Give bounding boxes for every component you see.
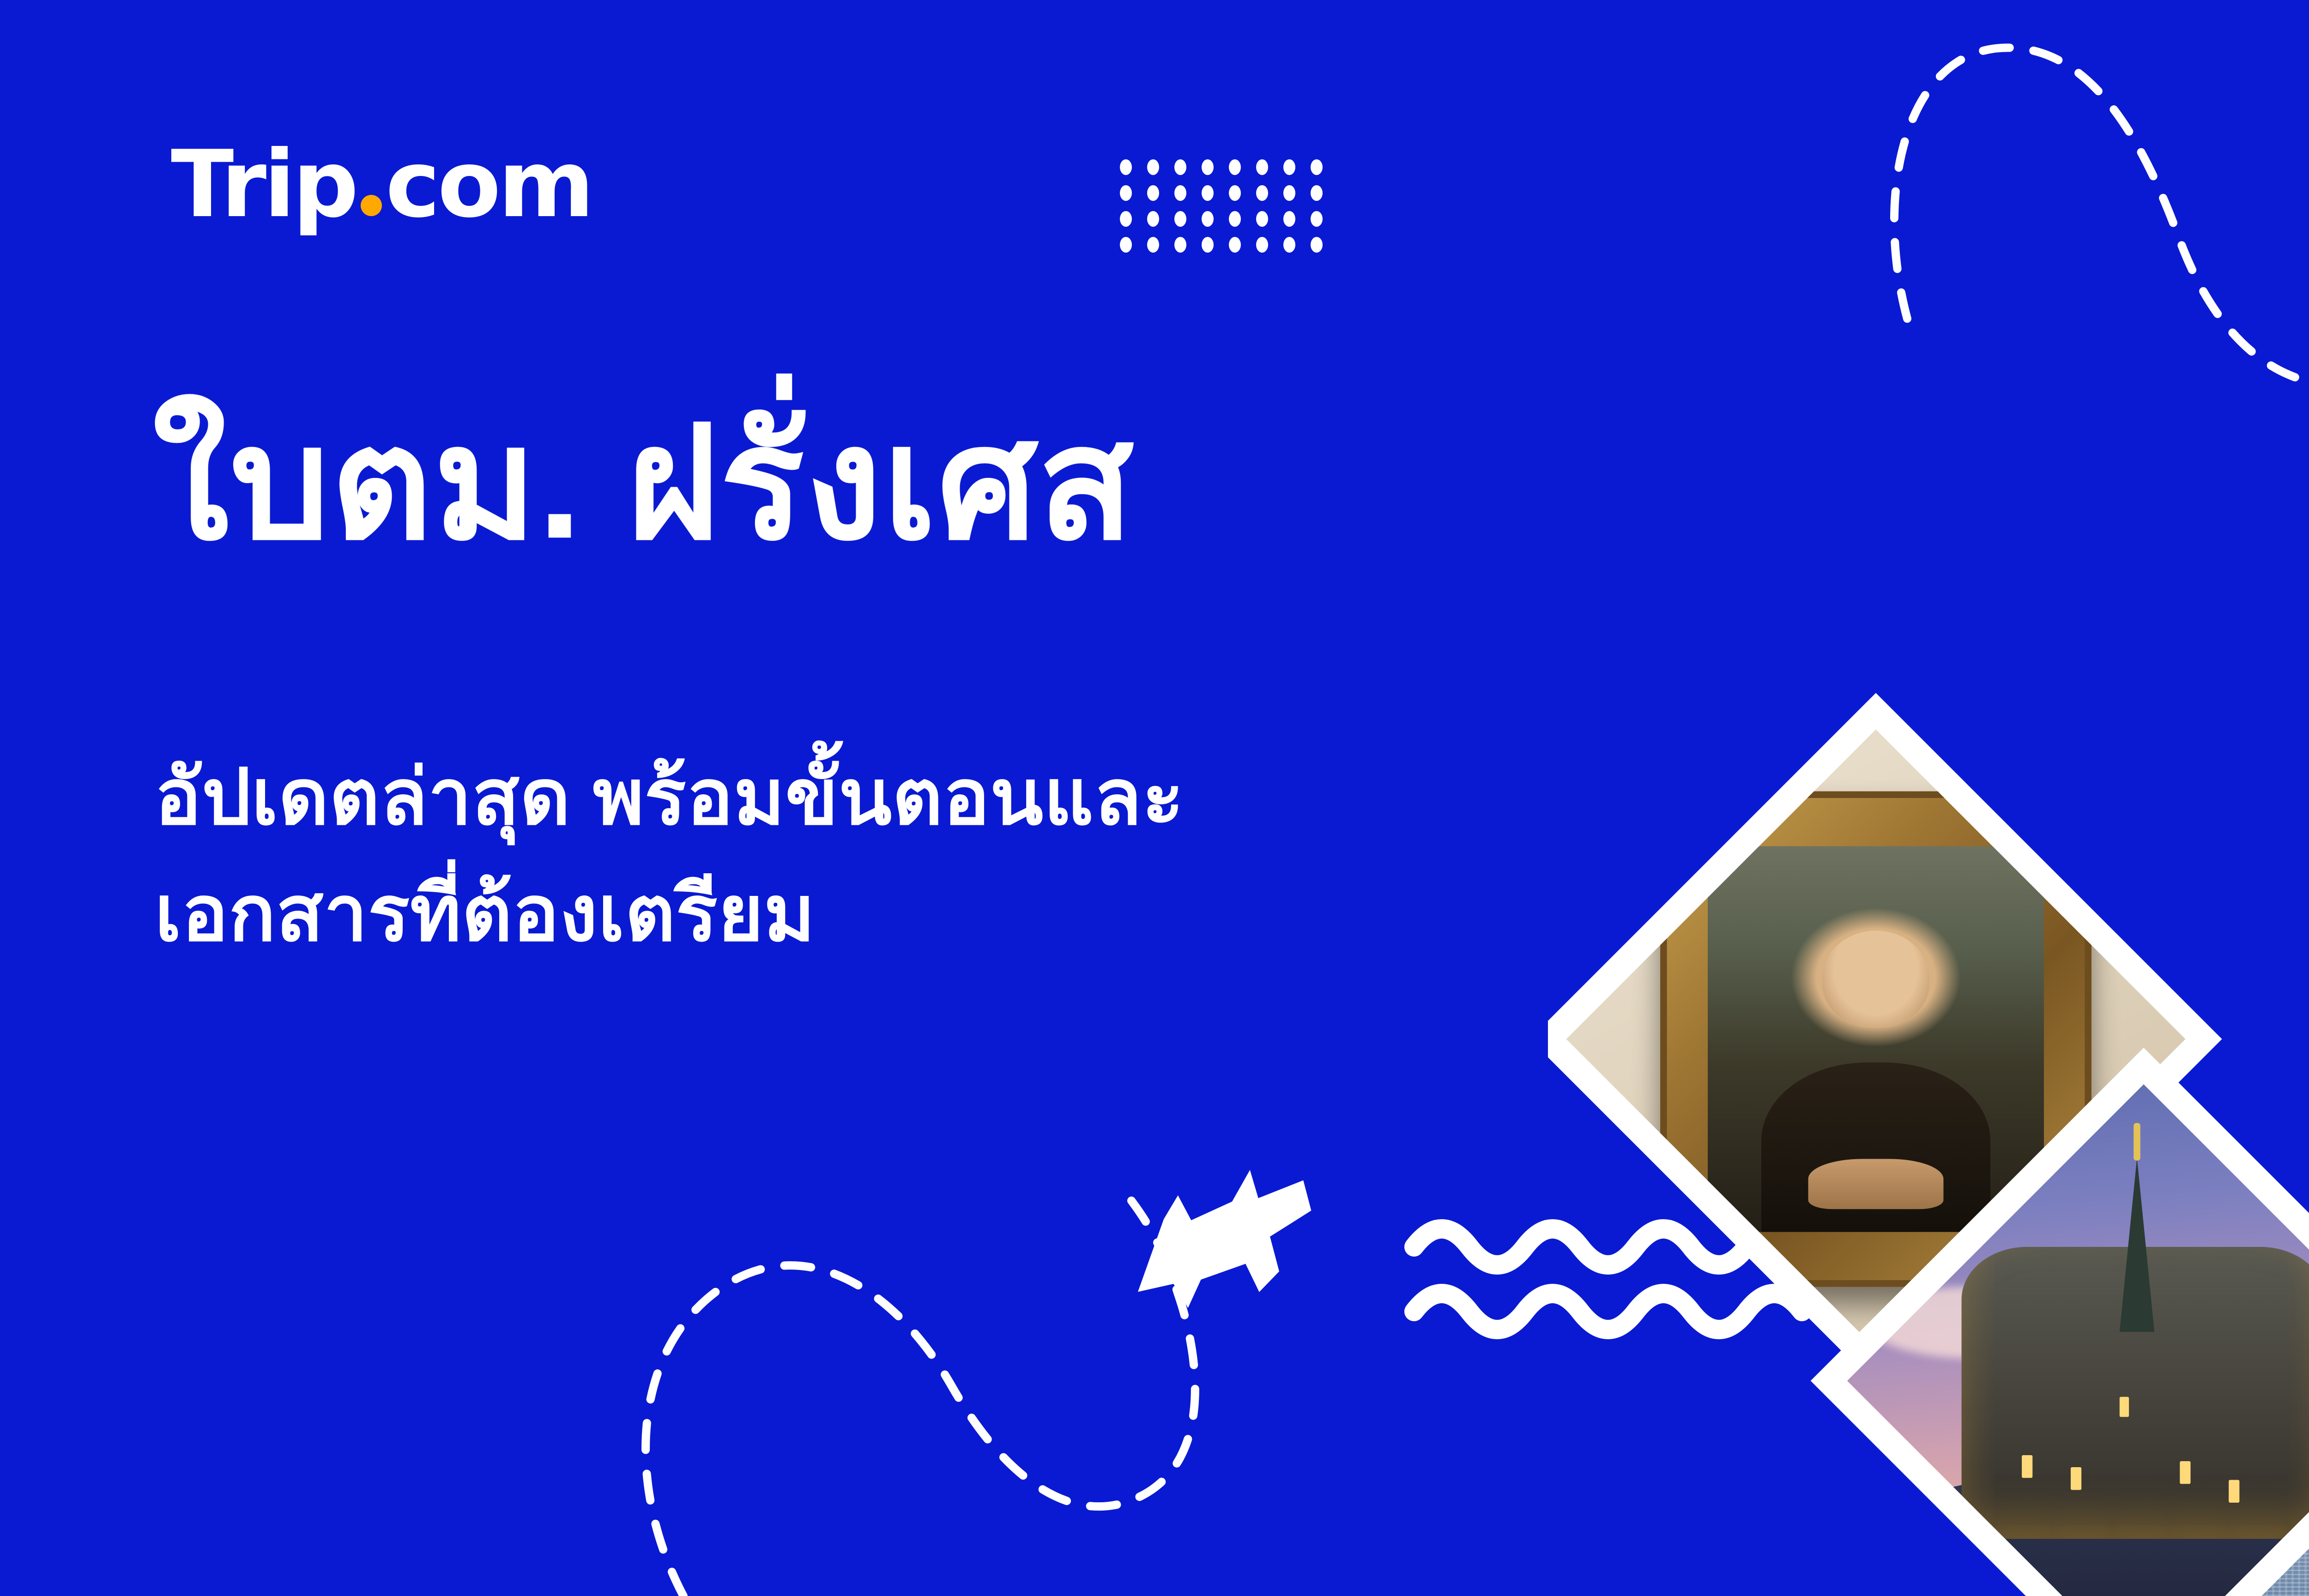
airplane-icon: [1106, 1132, 1341, 1348]
trip-com-france-visa-banner: Trip com ใบตม. ฝรั่งเศส อัปเดตล่าสุด พร้…: [0, 0, 2309, 1596]
flight-path-bottom-icon: [646, 1132, 1341, 1596]
logo-wordmark-trip: Trip: [171, 139, 356, 231]
subtitle-line-1: อัปเดตล่าสุด พร้อมขั้นตอนและ: [155, 739, 1184, 855]
dot-grid-icon: [1120, 159, 1323, 249]
logo-wordmark-com: com: [386, 139, 592, 231]
orange-dot-icon: [361, 195, 382, 216]
page-subtitle: อัปเดตล่าสุด พร้อมขั้นตอนและ เอกสารที่ต้…: [155, 739, 1184, 972]
tree-foliage: [1576, 28, 2268, 859]
photo-collage: [1548, 0, 2309, 1596]
subtitle-line-2: เอกสารที่ต้องเตรียม: [155, 855, 1184, 972]
trip-com-logo[interactable]: Trip com: [171, 139, 592, 231]
page-title: ใบตม. ฝรั่งเศส: [152, 388, 1135, 580]
